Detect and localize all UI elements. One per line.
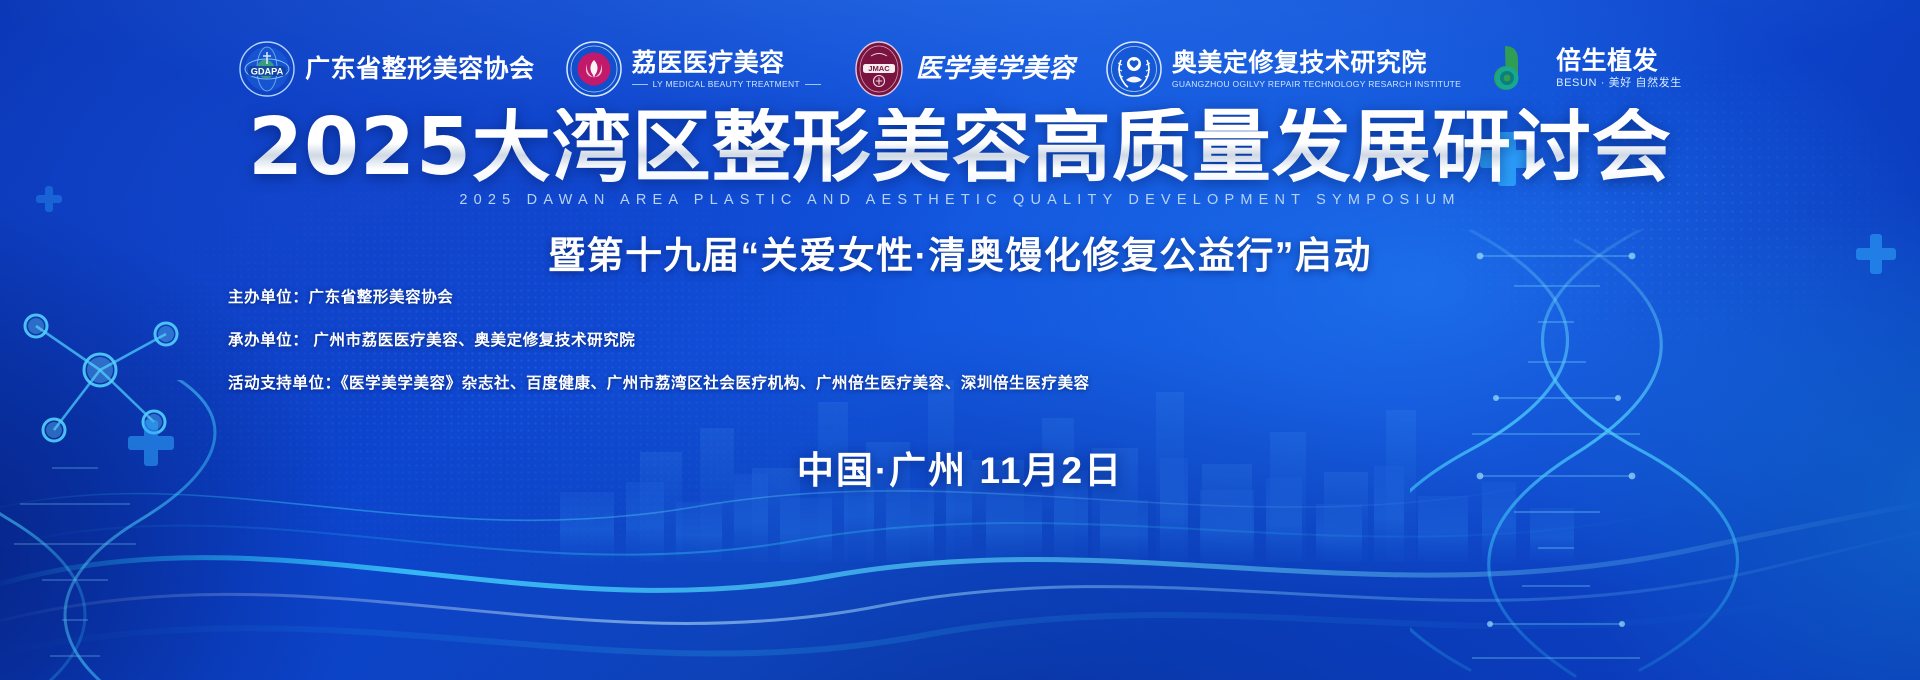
logo-jmac-name-cn: 医学美学美容 <box>916 54 1075 83</box>
main-title: 2025大湾区整形美容高质量发展研讨会 <box>0 108 1920 187</box>
logo-gdapa-name-cn: 广东省整形美容协会 <box>305 55 535 83</box>
partner-logo-row: GDAPA 广东省整形美容协会 荔医医疗美容 <box>0 40 1920 98</box>
logo-jmac: JMAC 医学美学美容 <box>851 40 1075 98</box>
logo-jmac-text: 医学美学美容 <box>916 54 1075 83</box>
event-subtitle: 暨第十九届“关爱女性·清奥馒化修复公益行”启动 <box>0 225 1920 279</box>
main-title-english: 2025 DAWAN AREA PLASTIC AND AESTHETIC QU… <box>0 192 1920 208</box>
logo-besun-text: 倍生植发 BESUN · 美好 自然发生 <box>1556 47 1682 91</box>
logo-besun-name-en: BESUN · 美好 自然发生 <box>1556 77 1682 91</box>
logo-besun-name-cn: 倍生植发 <box>1556 47 1682 75</box>
svg-text:GDAPA: GDAPA <box>251 66 284 76</box>
jmac-seal-icon: JMAC <box>851 40 907 98</box>
logo-besun: 倍生植发 BESUN · 美好 自然发生 <box>1491 40 1682 98</box>
organizer-line: 主办单位：广东省整形美容协会 <box>228 285 1090 307</box>
organizer-list: 主办单位：广东省整形美容协会 承办单位： 广州市荔医医疗美容、奥美定修复技术研究… <box>228 285 1090 393</box>
logo-liyi-name-cn: 荔医医疗美容 <box>632 49 821 77</box>
logo-ogilvy-name-en: GUANGZHOU OGILVY REPAIR TECHNOLOGY RESAR… <box>1172 79 1461 90</box>
logo-gdapa-text: 广东省整形美容协会 <box>305 55 535 83</box>
logo-liyi: 荔医医疗美容 LY MEDICAL BEAUTY TREATMENT <box>565 40 821 98</box>
logo-ogilvy-name-cn: 奥美定修复技术研究院 <box>1172 49 1461 77</box>
logo-liyi-text: 荔医医疗美容 LY MEDICAL BEAUTY TREATMENT <box>632 49 821 90</box>
logo-liyi-name-en: LY MEDICAL BEAUTY TREATMENT <box>632 79 821 90</box>
date-location: 中国·广州 11月2日 <box>0 440 1920 494</box>
organizer-line: 活动支持单位：《医学美学美容》杂志社、百度健康、广州市荔湾区社会医疗机构、广州倍… <box>228 371 1090 393</box>
ogilvy-wheat-icon <box>1105 40 1163 98</box>
organizer-line: 承办单位： 广州市荔医医疗美容、奥美定修复技术研究院 <box>228 328 1090 350</box>
liyi-tulip-icon <box>565 40 623 98</box>
logo-ogilvy-text: 奥美定修复技术研究院 GUANGZHOU OGILVY REPAIR TECHN… <box>1172 49 1461 90</box>
title-block: 2025大湾区整形美容高质量发展研讨会 2025 DAWAN AREA PLAS… <box>0 108 1920 279</box>
svg-text:JMAC: JMAC <box>868 64 890 73</box>
gdapa-globe-icon: GDAPA <box>238 40 296 98</box>
besun-spiral-icon <box>1491 40 1547 98</box>
logo-ogilvy: 奥美定修复技术研究院 GUANGZHOU OGILVY REPAIR TECHN… <box>1105 40 1461 98</box>
logo-gdapa: GDAPA 广东省整形美容协会 <box>238 40 535 98</box>
